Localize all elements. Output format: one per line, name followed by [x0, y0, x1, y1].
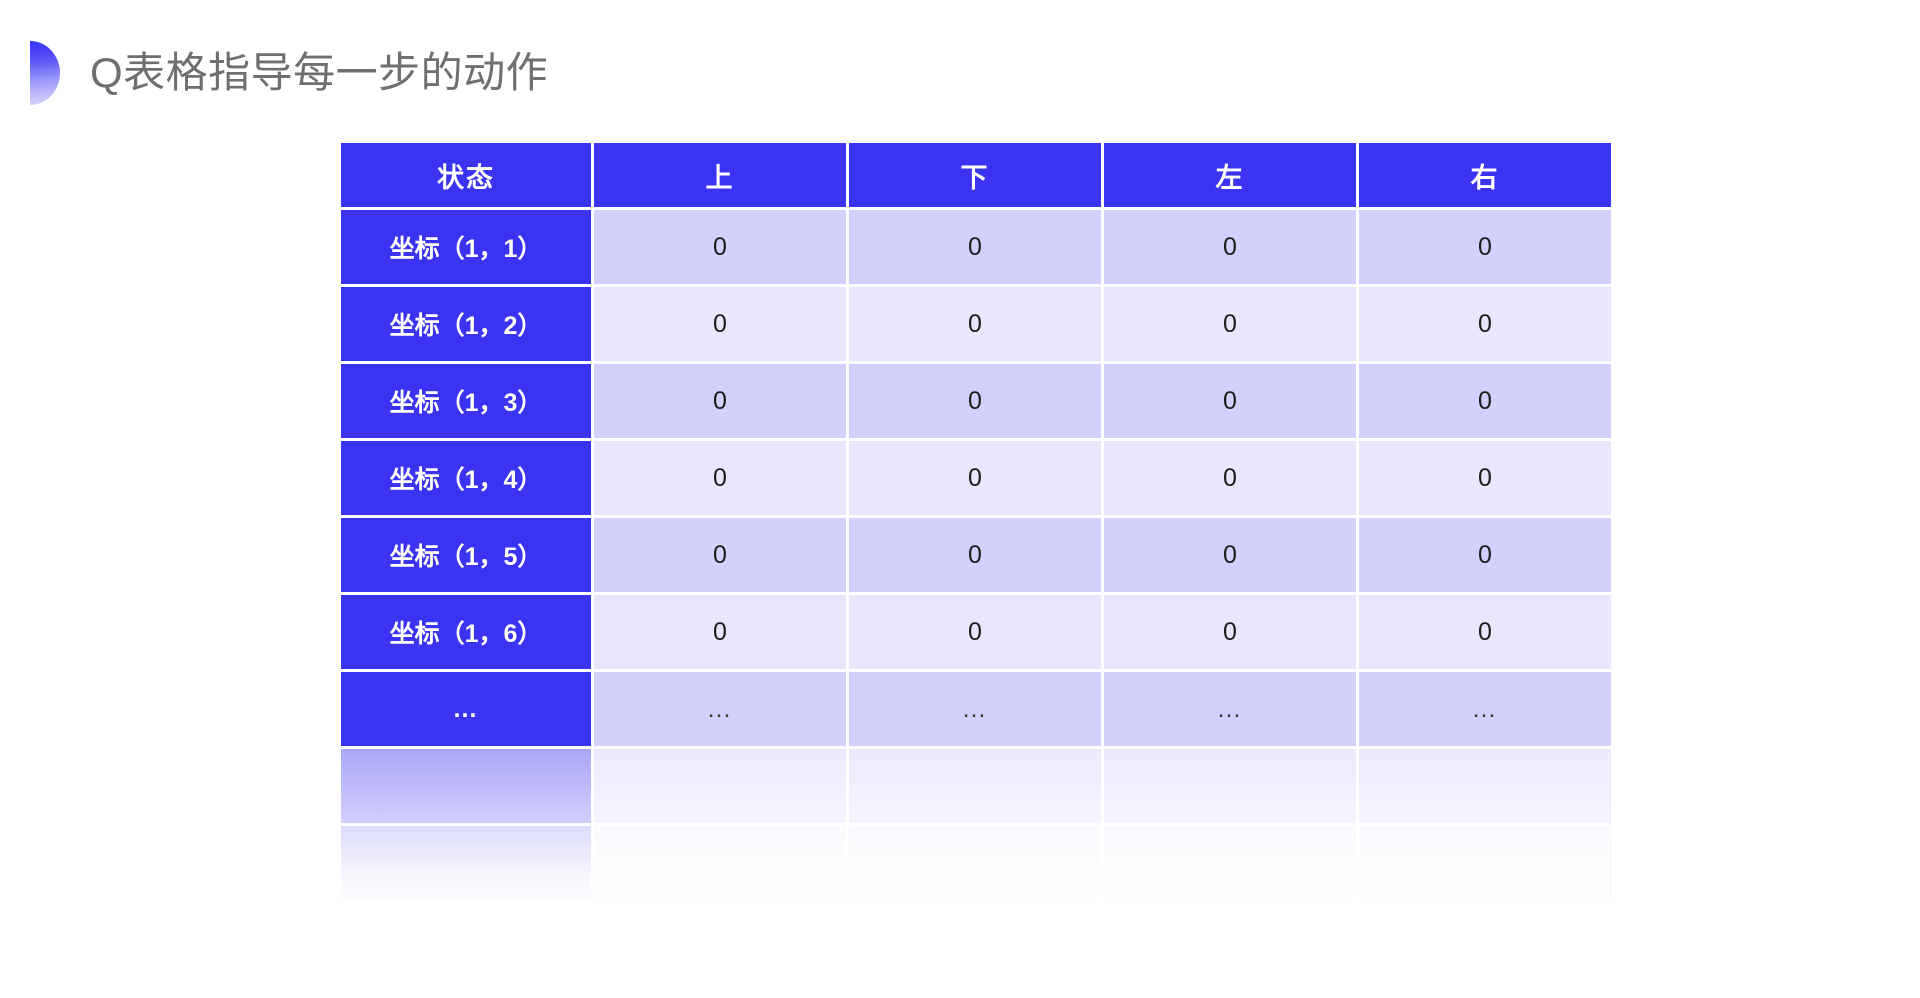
cell-left: 0 [1104, 595, 1356, 669]
q-table-header: 状态 上 下 左 右 [341, 143, 1611, 207]
half-circle-accent-icon [30, 41, 60, 105]
column-header-action-right: 右 [1359, 143, 1611, 207]
header-row: 状态 上 下 左 右 [341, 143, 1611, 207]
cell-up: 0 [594, 441, 846, 515]
cell-right: 0 [1359, 287, 1611, 361]
cell-left: … [1104, 672, 1356, 746]
page-title-row: Q表格指导每一步的动作 [0, 36, 548, 110]
cell-down: 0 [849, 287, 1101, 361]
cell-right: … [1359, 672, 1611, 746]
column-header-state: 状态 [341, 143, 591, 207]
cell-right: 0 [1359, 518, 1611, 592]
table-row-ellipsis: … … … … … [341, 672, 1611, 746]
slide-canvas: Q表格指导每一步的动作 状态 上 下 左 右 [0, 0, 1920, 998]
cell-down [849, 826, 1101, 900]
cell-left: 0 [1104, 364, 1356, 438]
cell-left: 0 [1104, 287, 1356, 361]
cell-up: … [594, 672, 846, 746]
cell-up: 0 [594, 210, 846, 284]
row-state-label [341, 826, 591, 900]
cell-down: … [849, 672, 1101, 746]
q-table-container: 状态 上 下 左 右 坐标（1，1） 0 0 0 0 坐标（1，2） 0 [338, 140, 1598, 903]
row-state-label: 坐标（1，2） [341, 287, 591, 361]
table-row: 坐标（1，5） 0 0 0 0 [341, 518, 1611, 592]
page-title: Q表格指导每一步的动作 [90, 50, 548, 96]
cell-right [1359, 826, 1611, 900]
column-header-action-up: 上 [594, 143, 846, 207]
cell-left [1104, 749, 1356, 823]
row-state-label: 坐标（1，3） [341, 364, 591, 438]
cell-left [1104, 826, 1356, 900]
cell-left: 0 [1104, 210, 1356, 284]
table-row-placeholder [341, 749, 1611, 823]
table-row: 坐标（1，4） 0 0 0 0 [341, 441, 1611, 515]
cell-up: 0 [594, 287, 846, 361]
cell-up: 0 [594, 518, 846, 592]
table-row: 坐标（1，6） 0 0 0 0 [341, 595, 1611, 669]
row-state-label: 坐标（1，4） [341, 441, 591, 515]
table-row-placeholder [341, 826, 1611, 900]
table-row: 坐标（1，3） 0 0 0 0 [341, 364, 1611, 438]
q-table: 状态 上 下 左 右 坐标（1，1） 0 0 0 0 坐标（1，2） 0 [338, 140, 1614, 903]
table-row: 坐标（1，1） 0 0 0 0 [341, 210, 1611, 284]
cell-right: 0 [1359, 210, 1611, 284]
column-header-action-left: 左 [1104, 143, 1356, 207]
cell-right: 0 [1359, 441, 1611, 515]
cell-up: 0 [594, 595, 846, 669]
cell-right [1359, 749, 1611, 823]
cell-up [594, 826, 846, 900]
cell-down: 0 [849, 210, 1101, 284]
cell-down: 0 [849, 595, 1101, 669]
cell-up [594, 749, 846, 823]
cell-right: 0 [1359, 595, 1611, 669]
row-state-label: 坐标（1，1） [341, 210, 591, 284]
cell-right: 0 [1359, 364, 1611, 438]
cell-down: 0 [849, 441, 1101, 515]
row-state-label: 坐标（1，6） [341, 595, 591, 669]
row-state-label [341, 749, 591, 823]
row-state-label: … [341, 672, 591, 746]
cell-left: 0 [1104, 518, 1356, 592]
q-table-body: 坐标（1，1） 0 0 0 0 坐标（1，2） 0 0 0 0 坐标（1，3） … [341, 210, 1611, 900]
cell-down: 0 [849, 518, 1101, 592]
cell-left: 0 [1104, 441, 1356, 515]
cell-down: 0 [849, 364, 1101, 438]
cell-down [849, 749, 1101, 823]
cell-up: 0 [594, 364, 846, 438]
table-row: 坐标（1，2） 0 0 0 0 [341, 287, 1611, 361]
row-state-label: 坐标（1，5） [341, 518, 591, 592]
column-header-action-down: 下 [849, 143, 1101, 207]
